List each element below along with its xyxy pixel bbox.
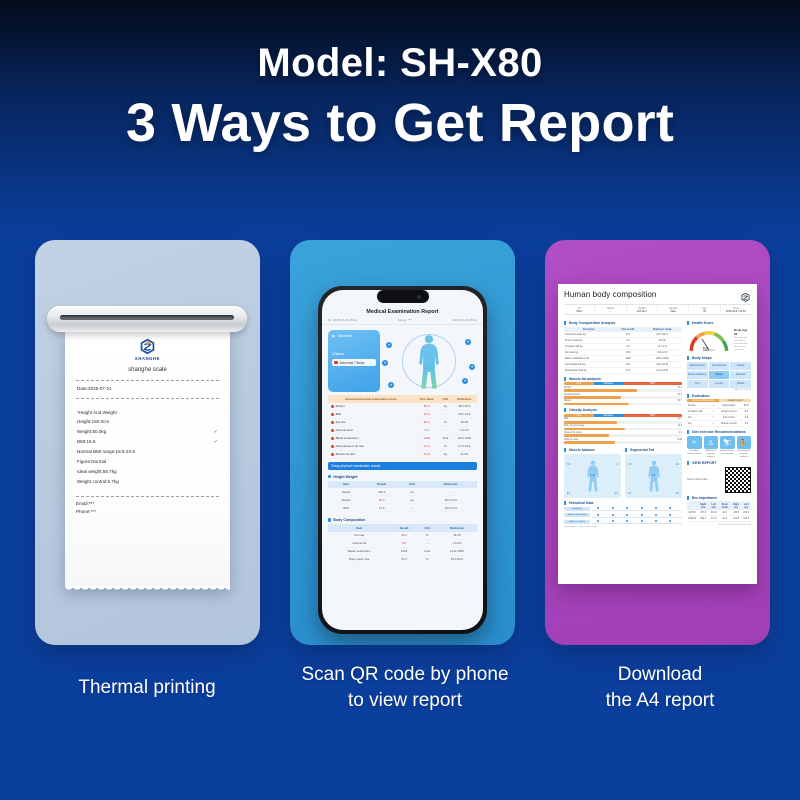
history-line (592, 513, 682, 518)
cell: 266.1 (698, 515, 709, 521)
bio-impedance-title: Bio-impedance (687, 496, 751, 500)
body-pin-1[interactable]: ✦ (386, 342, 392, 348)
col-result: Result (390, 524, 417, 532)
table-row: Muscle fat ratio 31.8 kg 41-49 (328, 450, 477, 458)
body-figure-area: ✦ ✦ ✦ ✦ ✦ ✦ (380, 330, 477, 392)
obesity-bar: BMI21.3 (564, 418, 682, 423)
legend-standard: Standard (594, 414, 624, 417)
table-row: Basal metabolism 1229 Kcal 1412-1605 (328, 547, 477, 555)
table-row: Extracellular fluid kg11.8(11.8-14.9) (564, 367, 682, 373)
col-unit: Unit (439, 395, 451, 403)
row-name: Fat (687, 421, 710, 427)
body-age-label: Body Age 35 (734, 328, 751, 336)
value-left-arm: 1.5 (628, 463, 631, 466)
receipt-brand: SHANGHE (76, 356, 219, 362)
value-left-leg: 8.7 (567, 492, 570, 495)
id-cell: ID0001 (564, 305, 595, 314)
row-unit: Kcal (439, 434, 451, 442)
view-report-block: Scan to view results (687, 467, 751, 493)
shape-cell[interactable]: Athletic (730, 380, 751, 388)
legend-low: Low (564, 414, 594, 417)
diet-exercise-icons: ≈ Healthy Dietetic Intake ♙ Walking 30 m… (687, 436, 751, 458)
historical-data-title: Historical Data (564, 501, 682, 505)
col-left-arm: Left arm (709, 501, 719, 509)
receipt-section-label: *Height And Weight (77, 410, 117, 417)
diet-item[interactable]: ≈ Healthy Dietetic Intake (687, 436, 702, 458)
bar-value: 24.8 (678, 425, 682, 427)
alert-dot-icon (331, 437, 334, 440)
receipt-line: Normal BMI range:18.5-24.9 (76, 448, 219, 458)
bar-name: Muscle (564, 400, 571, 402)
legend-standard: Standard (594, 382, 624, 385)
age-cell: Age34 (689, 305, 720, 314)
caption-line-2: to view report (280, 688, 530, 714)
row-ref: 18-28 (451, 418, 477, 426)
a4-report-sheet: Human body composition ID0001 Name-- Hei… (558, 284, 757, 584)
row-name: BMI (336, 412, 341, 416)
row-unit: -- (439, 410, 451, 418)
receipt-divider (76, 380, 219, 381)
history-label: Weight(kg) (564, 507, 590, 511)
body-shape-grid: Skeletal obesity Concealed fat Obesity M… (687, 362, 751, 388)
value-right-leg: 6.3 (615, 492, 618, 495)
headline-block: Model: SH-X80 3 Ways to Get Report (0, 42, 800, 154)
row-unit: % (439, 418, 451, 426)
time-cell: Time2025-06-27 10:40 (721, 305, 751, 314)
receipt-line: Ideal weight:55.7kg (76, 467, 219, 477)
muscle-fat-legend: Low Standard High (564, 382, 682, 385)
col-name: Abnormal physical examination items (328, 395, 414, 403)
diet-caption: Exercising 30 mins per workout (737, 450, 752, 458)
alert-dot-icon (331, 445, 334, 448)
caption-scan-qr: Scan QR code by phone to view report (280, 662, 530, 713)
value-left-leg: 2.7 (628, 492, 631, 495)
col-left-leg: Left leg (741, 501, 751, 509)
row-unit: cm (400, 488, 425, 496)
receipt-divider-3 (76, 496, 219, 497)
shape-cell-active[interactable]: Obesity (709, 371, 730, 379)
alert-dot-icon (331, 453, 334, 456)
row-name: Body water rate (328, 555, 390, 563)
obesity-bar: Visceral fat grade6.0 (564, 432, 682, 437)
row-ref: 17.5-19.6 (451, 442, 477, 450)
shape-cell[interactable]: Obesity (730, 362, 751, 370)
table-row: BMI 19.5 -- 18.5-24.9 (328, 410, 477, 418)
row-val: 1.8 (741, 421, 751, 427)
body-pin-3[interactable]: ✦ (382, 360, 388, 366)
ski-icon: ⛷ (720, 436, 735, 449)
muscle-fat-analysis-title: Muscle fat analysis (564, 377, 682, 381)
col-item: Item (328, 524, 390, 532)
health-score-readout: 50Points (687, 347, 731, 353)
a4-id-row: ID0001 Name-- Height160.0cm GenderMale A… (564, 304, 751, 315)
printer-paper-slot (60, 315, 234, 320)
caption-line-2: the A4 report (535, 688, 785, 714)
table-row: Subcutaneous fat rate 21.5 % 17.5-19.6 (328, 442, 477, 450)
tab-weight-control[interactable]: Weight control (719, 399, 751, 402)
caption-line-1: Scan QR code by phone (280, 662, 530, 688)
id-value: Male (658, 310, 688, 313)
table-row: Fat rate 28.2 % 18-28 (328, 418, 477, 426)
body-age-block: Body Age 35 Your body has reached the st… (734, 328, 751, 352)
alert-dot-icon (331, 405, 334, 408)
cell: 271.0 (709, 515, 719, 521)
shape-cell[interactable]: Thin (687, 380, 708, 388)
body-pin-2[interactable]: ✦ (465, 339, 471, 345)
tab-nutritional[interactable]: Nutritional Evaluation (687, 399, 719, 402)
thermal-printer-device (47, 306, 247, 332)
row-value: 19.5 (364, 504, 400, 512)
value-right-arm: 1.9 (676, 463, 679, 466)
receipt-line: Height:160.0cm (76, 418, 219, 428)
cell: 211.8 (731, 515, 742, 521)
swim-icon: ≈ (687, 436, 702, 449)
height-cell: Height160.0cm (627, 305, 658, 314)
muscle-balance-block: Muscle balance 3.6 2 10.8 8.7 6.3 (564, 445, 621, 498)
receipt-line: BMI:19.5 ✓ (76, 438, 219, 448)
muscle-fat-bar: Weight70.4 (564, 387, 682, 392)
abnormal-items-table: Abnormal physical examination items Test… (328, 395, 477, 459)
id-value: 160.0cm (627, 310, 657, 313)
walk-icon: ♙ (704, 436, 719, 449)
row-name: Subcutaneous fat rate (336, 444, 364, 448)
row-name: Height (328, 488, 364, 496)
receipt-line-check: ✓ (214, 429, 218, 437)
body-shape-title: Body shape (687, 356, 751, 360)
segmental-fat-block: Segmental Fat 1.5 1.9 5.3 2.7 4.5 (625, 445, 682, 498)
receipt-divider-2 (76, 398, 219, 399)
meta-left: ID: 2025-07-21 09:12 (328, 318, 357, 322)
receipt-line-text: BMI:19.5 (77, 439, 95, 447)
smartphone-device: Medical Examination Report ID: 2025-07-2… (318, 286, 487, 634)
phone-camera-icon (417, 295, 421, 299)
today-results-banner[interactable]: Today physical examination results (328, 462, 477, 470)
value-left-arm: 3.6 (567, 463, 570, 466)
meta-right: 2025-07-21 09:12 (453, 318, 477, 322)
row-unit: Kcal (418, 547, 437, 555)
row-value: 51.0 (390, 555, 417, 563)
diet-exercise-title: Diet exercise Recommendations (687, 430, 751, 434)
row-value: 160.0 (364, 488, 400, 496)
total-items-unit: items (336, 352, 344, 356)
row-freq: 100KHz (687, 515, 698, 521)
total-items-card: ▣ Total items 32items Abnormal 7 items (328, 330, 380, 392)
historical-data-chart: Weight(kg) Skeletal muscle(kg) Body fat … (564, 506, 682, 524)
a4-columns: Body Composition Analysis Test items Tes… (564, 318, 751, 528)
shape-cell[interactable]: Muscle deficiency (687, 371, 708, 379)
evaluation-tabs: Nutritional Evaluation Weight control (687, 399, 751, 402)
row-value: 1229 (414, 434, 439, 442)
receipt-line-text: Weight control:5.7kg (77, 479, 119, 486)
muscle-balance-title: Muscle balance (564, 448, 621, 452)
diet-caption: Healthy Dietetic Intake (687, 450, 702, 456)
table-row: Fat✓Muscle control1.8 (687, 421, 751, 427)
section-label: Body Composition (333, 518, 365, 522)
receipt-phone: Phone:*** (76, 508, 219, 516)
row-value: 28.2 (414, 418, 439, 426)
value-right-arm: 2 (617, 463, 618, 466)
row-name: Extracellular fluid kg (564, 367, 614, 373)
health-score-unit: Points (708, 349, 715, 352)
alert-dot-icon (331, 429, 334, 432)
row-ref: 18.5-24.9 (425, 504, 477, 512)
a4-right-column: Health Score 50Points (687, 318, 751, 528)
panel-thermal-printing: SHANGHE shanghe scale Date:2025-07-21 *H… (35, 240, 260, 645)
evaluation-table: Protein✓Ideal weight52.8 Inorganic salt✓… (687, 403, 751, 427)
model-line: Model: SH-X80 (0, 42, 800, 84)
col-item: Item (328, 481, 364, 489)
section-marker-icon (328, 475, 331, 478)
row-value: 6.0 (390, 539, 417, 547)
printed-receipt: SHANGHE shanghe scale Date:2025-07-21 *H… (65, 326, 230, 588)
id-value: 2025-06-27 10:40 (721, 310, 751, 313)
col-result: Result (364, 481, 400, 489)
table-header-row: Item Result Unit Reference (328, 524, 477, 532)
row-ctrl: Muscle control (716, 421, 741, 427)
caption-line-1: Download (535, 662, 785, 688)
shape-cell[interactable]: Low fat (709, 380, 730, 388)
gender-cell: GenderMale (658, 305, 689, 314)
name-cell: Name-- (595, 305, 626, 314)
shanghe-logo-icon (139, 338, 156, 355)
obesity-bar: Body fat percentage24.8 (564, 425, 682, 430)
table-row: Visceral level 6.0 -- 1.0-9.0 (328, 426, 477, 434)
col-right-leg: Right leg (731, 501, 742, 509)
row-ref: 45.0-60.0 (437, 555, 477, 563)
row-value: 19.5 (414, 410, 439, 418)
row-ref: 48.0-63.0 (425, 496, 477, 504)
row-ref: 18.5-24.9 (451, 410, 477, 418)
table-row: Weight 50.0 kg 48.0-63.0 (328, 403, 477, 411)
table-header-row: Abnormal physical examination items Test… (328, 395, 477, 403)
history-row: Skeletal muscle(kg) (564, 513, 682, 518)
a4-footer-left-wrap: Report page 1 / page 1 Note 1 page (564, 526, 682, 528)
diet-item[interactable]: ♙ Walking 30 mins per workout (704, 436, 719, 458)
row-name: Basal metabolism (328, 547, 390, 555)
diet-item[interactable]: ⛷ Skiing 30 mins per workout (720, 436, 735, 458)
receipt-section-title: *Height And Weight (76, 408, 219, 418)
row-ref: 1412-1605 (451, 434, 477, 442)
body-pin-4[interactable]: ✦ (469, 364, 475, 370)
abnormal-square-icon (334, 361, 338, 365)
shape-cell[interactable]: Muscular (730, 371, 751, 379)
row-unit: kg (439, 450, 451, 458)
diet-caption: Skiing 30 mins per workout (720, 450, 735, 456)
row-unit: % (418, 532, 437, 540)
shanghe-logo-icon (740, 290, 751, 301)
table-row: Weight 50.0 kg 48.0-63.0 (328, 496, 477, 504)
body-shape-note: BMI:7.35 %:24.39 (687, 389, 751, 391)
receipt-line-text: Figure:Normal (77, 459, 106, 466)
body-composition-section-title: Body Composition (322, 515, 483, 524)
history-label: Skeletal muscle(kg) (564, 513, 590, 517)
health-score-gauge: 50Points (687, 329, 731, 353)
muscle-balance-figure: 3.6 2 10.8 8.7 6.3 (564, 454, 621, 498)
id-value: 34 (689, 310, 719, 313)
history-row: Weight(kg) (564, 506, 682, 511)
row-name: Fat rate (328, 532, 390, 540)
muscle-fat-bar: Muscle54.7 (564, 400, 682, 405)
legend-high: High (623, 382, 682, 385)
row-value: 50.0 (414, 403, 439, 411)
row-ref: 41-49 (451, 450, 477, 458)
height-weight-table: Item Result Unit Reference Height 160.0 … (328, 481, 477, 513)
row-ref: 1.0-9.0 (451, 426, 477, 434)
phone-screen[interactable]: Medical Examination Report ID: 2025-07-2… (322, 290, 483, 630)
col-trunk: Body trunk (719, 501, 731, 509)
a4-footer-right-wrap: Note:this result is for reference only (687, 524, 751, 526)
table-row: 100KHz 266.1 271.0 21.5 211.8 214.1 (687, 515, 751, 521)
receipt-line: Weight control:5.7kg (76, 477, 219, 487)
history-line (592, 519, 682, 524)
caption-thermal-printing: Thermal printing (22, 675, 272, 701)
history-label: Body fat rate(%) (564, 520, 590, 524)
receipt-torn-edge (65, 586, 230, 593)
row-value: 50.0 (364, 496, 400, 504)
a4-footer-right: Note:this result is for reference only (718, 524, 751, 526)
body-composition-analysis-title: Body Composition Analysis (564, 321, 682, 325)
row-ref: 48.0-63.0 (451, 403, 477, 411)
health-score-block: 50Points Body Age 35 Your body has reach… (687, 327, 751, 353)
bike-icon: ⛹ (737, 436, 752, 449)
obesity-analysis-title: Obesity Analysis (564, 408, 682, 412)
a4-title: Human body composition (564, 290, 656, 299)
receipt-line-text: Normal BMI range:18.5-24.9 (77, 449, 135, 456)
table-header-row: Item Result Unit Reference (328, 481, 477, 489)
row-ref: 1.0-9.0 (437, 539, 477, 547)
alert-dot-icon (331, 421, 334, 424)
row-name: Muscle fat ratio (336, 452, 356, 456)
total-items-value-row: 32items (332, 341, 376, 358)
row-ref: 1412-1605 (437, 547, 477, 555)
history-row: Body fat rate(%) (564, 519, 682, 524)
height-weight-section-title: Height Weight (322, 472, 483, 481)
row-unit: -- (439, 426, 451, 434)
obesity-bar: Waist hip ratio0.88 (564, 439, 682, 444)
col-right-arm: Right arm (698, 501, 709, 509)
receipt-line-text: Weight:50.0kg (77, 429, 106, 437)
table-row: BMI 19.5 -- 18.5-24.9 (328, 504, 477, 512)
cell: 214.1 (741, 515, 751, 521)
body-age-note: Your body has reached the standard value… (734, 337, 751, 352)
history-line (592, 506, 682, 511)
receipt-email: Email:*** (76, 500, 219, 508)
total-items-label: Total items (337, 334, 352, 338)
row-value: 28.2 (390, 532, 417, 540)
receipt-line-text: Height:160.0cm (77, 419, 109, 426)
row-name: Visceral level (336, 428, 353, 432)
body-pin-6[interactable]: ✦ (462, 378, 468, 384)
body-composition-table: Item Result Unit Reference Fat rate 28.2… (328, 524, 477, 564)
row-value: 11.8 (614, 367, 643, 373)
row-value: 21.5 (414, 442, 439, 450)
table-row: Visceral fat 6.0 -- 1.0-9.0 (328, 539, 477, 547)
shape-cell[interactable]: Skeletal obesity (687, 362, 708, 370)
receipt-line-check: ✓ (214, 439, 218, 447)
row-unit: % (439, 442, 451, 450)
bar-name: Body fat percentage (564, 425, 585, 427)
row-unit: -- (418, 539, 437, 547)
row-unit: kg (439, 403, 451, 411)
health-score-title: Health Score (687, 321, 751, 325)
id-value: 0001 (564, 310, 594, 313)
value-right-leg: 4.5 (676, 492, 679, 495)
id-value: -- (595, 310, 625, 313)
row-unit: % (418, 555, 437, 563)
col-unit: Unit (400, 481, 425, 489)
legend-low: Low (564, 382, 594, 385)
bio-impedance-table: Right arm Left arm Body trunk Right leg … (687, 501, 751, 521)
evaluation-title: Evaluation (687, 394, 751, 398)
diet-item[interactable]: ⛹ Exercising 30 mins per workout (737, 436, 752, 458)
table-row: Basal metabolism 1229 Kcal 1412-1605 (328, 434, 477, 442)
col-value: Test value (414, 395, 439, 403)
table-row: Fat rate 28.2 % 18-28 (328, 532, 477, 540)
row-unit: -- (400, 504, 425, 512)
receipt-logo-block: SHANGHE (76, 338, 219, 362)
col-ref: Reference (425, 481, 477, 489)
phone-report-meta: ID: 2025-07-21 09:12 Name: *** 2025-07-2… (322, 315, 483, 325)
balance-fat-row: Muscle balance 3.6 2 10.8 8.7 6.3 (564, 445, 682, 498)
row-name: Visceral fat (328, 539, 390, 547)
receipt-line: Figure:Normal (76, 458, 219, 468)
diet-caption: Walking 30 mins per workout (704, 450, 719, 458)
receipt-date: Date:2025-07-21 (76, 384, 219, 395)
panel-scan-qr: Medical Examination Report ID: 2025-07-2… (290, 240, 515, 645)
table-row: Height 160.0 cm -- (328, 488, 477, 496)
table-row: Body water rate 51.0 % 45.0-60.0 (328, 555, 477, 563)
row-ref: (11.8-14.9) (643, 367, 682, 373)
legend-high: High (623, 414, 682, 417)
row-unit: kg (400, 496, 425, 504)
row-value: 6.0 (414, 426, 439, 434)
view-report-title: VIEW REPORT (687, 461, 751, 465)
row-name: Fat rate (336, 420, 346, 424)
panel-a4-report: Human body composition ID0001 Name-- Hei… (545, 240, 770, 645)
segmental-fat-title: Segmental Fat (625, 448, 682, 452)
obesity-legend: Low Standard High (564, 414, 682, 417)
headline-line: 3 Ways to Get Report (0, 92, 800, 154)
col-ref: Reference (437, 524, 477, 532)
row-value: 31.8 (414, 450, 439, 458)
body-pin-5[interactable]: ✦ (388, 382, 394, 388)
caption-download-a4: Download the A4 report (535, 662, 785, 713)
a4-header: Human body composition (564, 290, 751, 301)
bar-value: 54.7 (678, 400, 682, 402)
receipt-line: Weight:50.0kg ✓ (76, 428, 219, 438)
a4-left-column: Body Composition Analysis Test items Tes… (564, 318, 682, 528)
section-marker-icon (328, 518, 331, 521)
clipboard-icon: ▣ (332, 334, 335, 338)
qr-code-icon[interactable] (725, 467, 751, 493)
section-label: Height Weight (333, 475, 357, 479)
table-header-row: Right arm Left arm Body trunk Right leg … (687, 501, 751, 509)
value-trunk: 5.3 (652, 474, 655, 477)
shape-cell[interactable]: Concealed fat (709, 362, 730, 370)
row-name: Weight (328, 496, 364, 504)
alert-dot-icon (331, 413, 334, 416)
phone-notch (377, 290, 429, 303)
row-ref: -- (425, 488, 477, 496)
abnormal-badge: Abnormal 7 items (332, 359, 376, 366)
row-name: Weight (336, 404, 345, 408)
a4-footer-left: Report page 1 / page 1 Note 1 page (564, 526, 597, 528)
human-body-icon (416, 334, 442, 390)
col-unit: Unit (418, 524, 437, 532)
body-composition-analysis-table: Test items Test results Reference range … (564, 327, 682, 374)
row-name: BMI (328, 504, 364, 512)
value-trunk: 10.8 (590, 474, 595, 477)
